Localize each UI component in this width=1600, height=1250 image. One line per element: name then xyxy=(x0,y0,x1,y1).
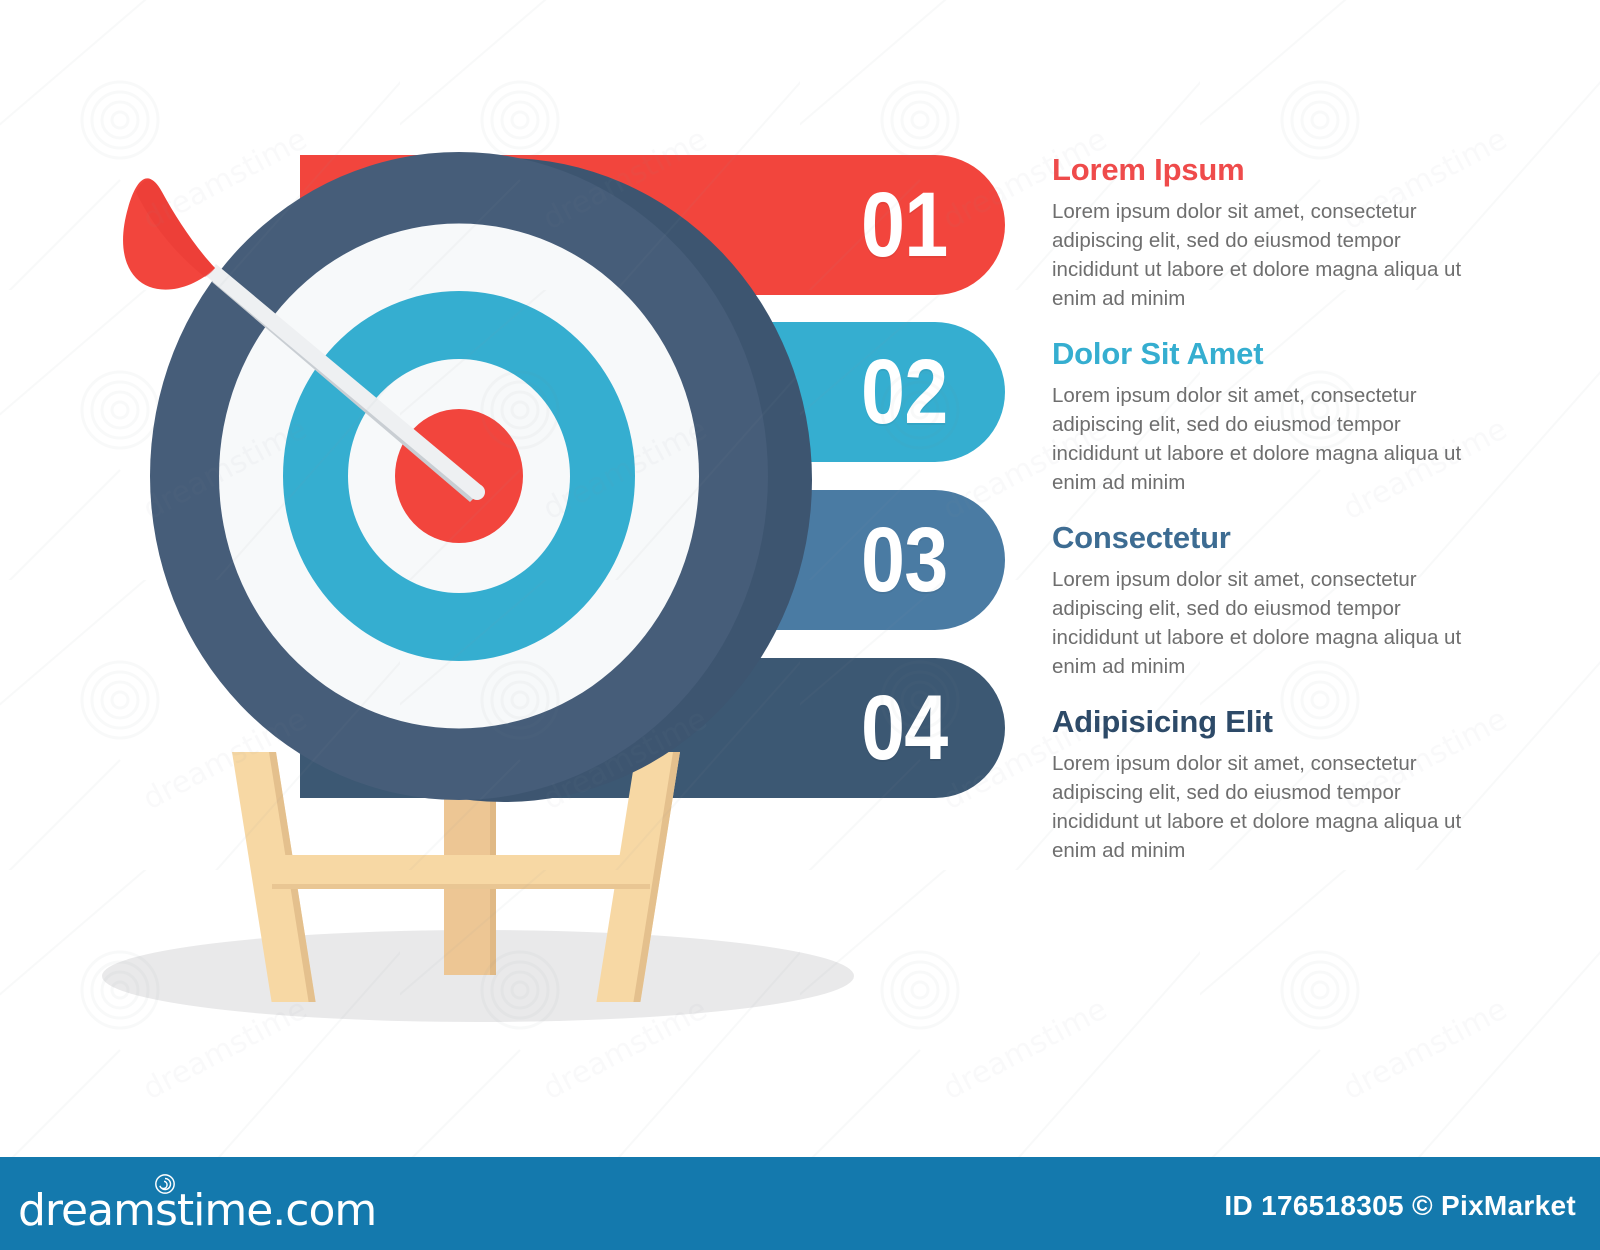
image-id-text: ID 176518305 © PixMarket xyxy=(1224,1190,1576,1222)
step-text-01: Lorem Ipsum Lorem ipsum dolor sit amet, … xyxy=(1052,152,1472,313)
step-body-01: Lorem ipsum dolor sit amet, consectetur … xyxy=(1052,197,1472,313)
step-title-01: Lorem Ipsum xyxy=(1052,152,1472,188)
arrow-fletching xyxy=(123,178,215,289)
step-body-04: Lorem ipsum dolor sit amet, consectetur … xyxy=(1052,749,1472,865)
step-text-04: Adipisicing Elit Lorem ipsum dolor sit a… xyxy=(1052,704,1472,865)
step-title-03: Consectetur xyxy=(1052,520,1472,556)
step-title-02: Dolor Sit Amet xyxy=(1052,336,1472,372)
dreamstime-logo-text: dreamstime.com xyxy=(18,1185,376,1236)
target-bullseye xyxy=(395,409,523,543)
tripod-cross-bar xyxy=(272,855,650,889)
stock-footer-bar: dreamstime.com ID 176518305 © PixMarket xyxy=(0,1157,1600,1250)
step-title-04: Adipisicing Elit xyxy=(1052,704,1472,740)
step-text-02: Dolor Sit Amet Lorem ipsum dolor sit ame… xyxy=(1052,336,1472,497)
step-body-02: Lorem ipsum dolor sit amet, consectetur … xyxy=(1052,381,1472,497)
infographic-canvas: 01 02 03 04 xyxy=(0,0,1600,1250)
step-text-03: Consectetur Lorem ipsum dolor sit amet, … xyxy=(1052,520,1472,681)
target-illustration xyxy=(0,0,900,1060)
step-body-03: Lorem ipsum dolor sit amet, consectetur … xyxy=(1052,565,1472,681)
target-disc xyxy=(150,152,768,800)
steps-text-column: Lorem Ipsum Lorem ipsum dolor sit amet, … xyxy=(1052,152,1472,888)
arrow-fletching-shade xyxy=(136,180,215,277)
